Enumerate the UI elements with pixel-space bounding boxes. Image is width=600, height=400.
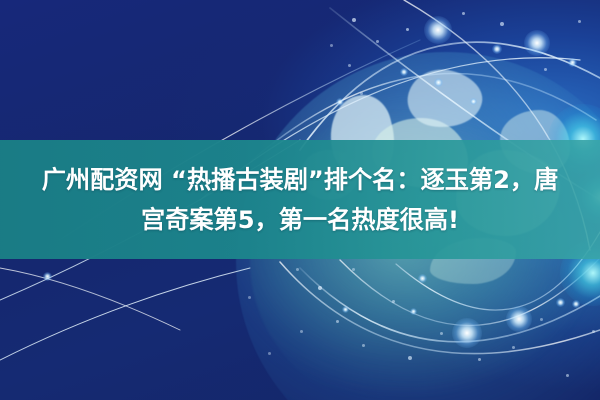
network-node [342, 306, 349, 313]
network-node [336, 98, 344, 106]
network-node [572, 300, 580, 308]
headline-line-1: 广州配资网 “热播古装剧”排个名：逐玉第2，唐 [42, 161, 559, 199]
particle-dot [392, 300, 395, 303]
particle-dot [592, 330, 595, 333]
network-node [470, 98, 477, 105]
particle-dot [300, 330, 303, 333]
headline-text-block: 广州配资网 “热播古装剧”排个名：逐玉第2，唐 宫奇案第5，第一名热度很高! [0, 140, 600, 259]
particle-dot [440, 332, 443, 335]
particle-dot [566, 374, 569, 377]
network-node [400, 68, 408, 76]
network-node [506, 306, 532, 332]
particle-dot [268, 352, 271, 355]
network-node [434, 78, 443, 87]
particle-dot [478, 358, 481, 361]
network-node [43, 272, 52, 281]
network-node [424, 16, 452, 44]
network-node [452, 318, 482, 348]
particle-dot [360, 92, 363, 95]
particle-dot [544, 68, 547, 71]
particle-dot [248, 296, 251, 299]
network-node [524, 30, 550, 56]
particle-dot [462, 12, 465, 15]
particle-dot [512, 346, 515, 349]
particle-dot [362, 344, 365, 347]
network-node [492, 44, 502, 54]
particle-dot [352, 268, 355, 271]
particle-dot [500, 22, 504, 26]
particle-dot [540, 318, 543, 321]
network-node [556, 298, 565, 307]
particle-dot [352, 18, 356, 22]
particle-dot [348, 64, 351, 67]
network-node [568, 58, 577, 67]
network-node [410, 308, 417, 315]
particle-dot [336, 320, 339, 323]
particle-dot [578, 20, 581, 23]
particle-dot [330, 44, 333, 47]
particle-dot [296, 268, 299, 271]
particle-dot [318, 286, 322, 290]
particle-dot [376, 40, 379, 43]
particle-dot [406, 28, 409, 31]
banner-image: 广州配资网 “热播古装剧”排个名：逐玉第2，唐 宫奇案第5，第一名热度很高! [0, 0, 600, 400]
network-node [418, 274, 427, 283]
particle-dot [408, 356, 412, 360]
headline-line-2: 宫奇案第5，第一名热度很高! [141, 201, 459, 239]
